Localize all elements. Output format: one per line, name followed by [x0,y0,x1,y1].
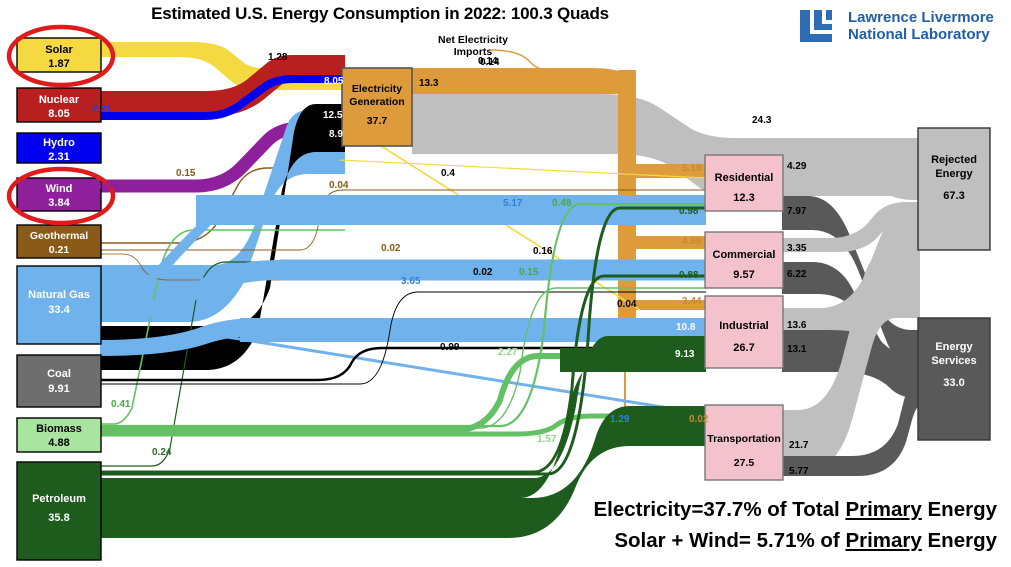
node-box-commercial[interactable] [705,232,783,288]
flow-value-pet-elec: 0.24 [152,447,171,458]
flow-value-gas-ind: 10.8 [676,322,695,333]
flow-value-bio-trans: 1.57 [537,434,556,445]
flow-value-gas-trans: 1.29 [610,414,629,425]
flow-value-elec-com: 4.69 [682,236,701,247]
sankey-diagram-canvas: Estimated U.S. Energy Consumption in 202… [0,0,1011,567]
footer-line1-underlined: Primary [845,498,921,521]
flow-value-res-rejected: 4.29 [787,161,806,172]
flow-value-geo-elec: 0.15 [176,168,195,179]
footer-line2-part-a: Solar + Wind= 5.71% of [614,529,845,552]
flow-value-coal-com: 0.02 [473,267,492,278]
node-box-solar[interactable] [17,38,101,72]
flow-value-nuclear-elec: 8.05 [324,76,343,87]
flow-value-gas-com: 3.65 [401,276,420,287]
flow-electricity-to-rejected [412,94,920,196]
node-box-residential[interactable] [705,155,783,211]
flow-value-solar-ind: 0.04 [617,299,636,310]
node-box-geothermal[interactable] [17,225,101,258]
flow-value-pet-trans: 24.6 [671,451,690,462]
flow-value-bio-ind: 2.27 [498,347,517,358]
flow-value-res-services: 7.97 [787,206,806,217]
flow-value-gas-elec: 12.5 [323,110,342,121]
flow-value-ind-rejected: 13.6 [787,320,806,331]
flow-value-net-electricity-imports: 0.14 [478,56,497,67]
footer-line1-part-a: Electricity=37.7% of Total [593,498,845,521]
flow-value-coal-elec: 8.9 [329,129,343,140]
footer-line-1: Electricity=37.7% of Total Primary Energ… [593,498,997,522]
footer-line2-part-c: Energy [922,529,997,552]
node-box-transportation[interactable] [705,405,783,480]
flow-value-elec-rejected: 24.3 [752,115,771,126]
flow-value-coal-ind: 0.99 [440,342,459,353]
footer-line1-part-c: Energy [922,498,997,521]
flow-value-com-services: 6.22 [787,269,806,280]
node-box-biomass[interactable] [17,418,101,452]
node-box-coal[interactable] [17,355,101,407]
flow-value-wind-elec: 3.84 [96,181,115,192]
flow-value-pet-ind: 9.13 [675,349,694,360]
node-box-energy-services[interactable] [918,318,990,440]
flow-value-solar-elec: 1.28 [268,52,287,63]
flow-value-hydro-elec: 2.31 [92,104,111,115]
footer-line-2: Solar + Wind= 5.71% of Primary Energy [614,529,997,553]
flow-value-elec-ind: 3.44 [682,296,701,307]
flow-value-com-rejected: 3.35 [787,243,806,254]
footer-line2-underlined: Primary [845,529,921,552]
flow-value-bio-com: 0.15 [519,267,538,278]
flow-value-gas-res: 5.17 [503,198,522,209]
node-box-rejected-energy[interactable] [918,128,990,250]
node-box-wind[interactable] [17,178,101,211]
node-box-electricity-generation[interactable] [342,68,412,146]
flow-value-solar-com: 0.16 [533,246,552,257]
flow-electricity-usable [412,68,636,94]
node-box-industrial[interactable] [705,296,783,368]
sankey-flows [0,0,1011,567]
flow-value-elec-res: 5.19 [682,163,701,174]
flow-value-pet-res: 0.98 [679,206,698,217]
flow-value-solar-res: 0.4 [441,168,455,179]
flow-value-bio-elec: 0.41 [111,399,130,410]
flow-value-trans-rejected: 21.7 [789,440,808,451]
node-box-natural-gas[interactable] [17,266,101,344]
flow-value-elec-trans: 0.02 [689,414,708,425]
node-box-hydro[interactable] [17,133,101,163]
flow-value-elec-dist: 13.3 [419,78,438,89]
flow-value-geo-com: 0.02 [381,243,400,254]
node-box-petroleum[interactable] [17,462,101,560]
flow-value-ind-services: 13.1 [787,344,806,355]
flow-value-trans-services: 5.77 [789,466,808,477]
flow-value-bio-res: 0.48 [552,198,571,209]
flow-value-geo-res: 0.04 [329,180,348,191]
flow-value-pet-com: 0.88 [679,270,698,281]
node-box-nuclear[interactable] [17,88,101,122]
